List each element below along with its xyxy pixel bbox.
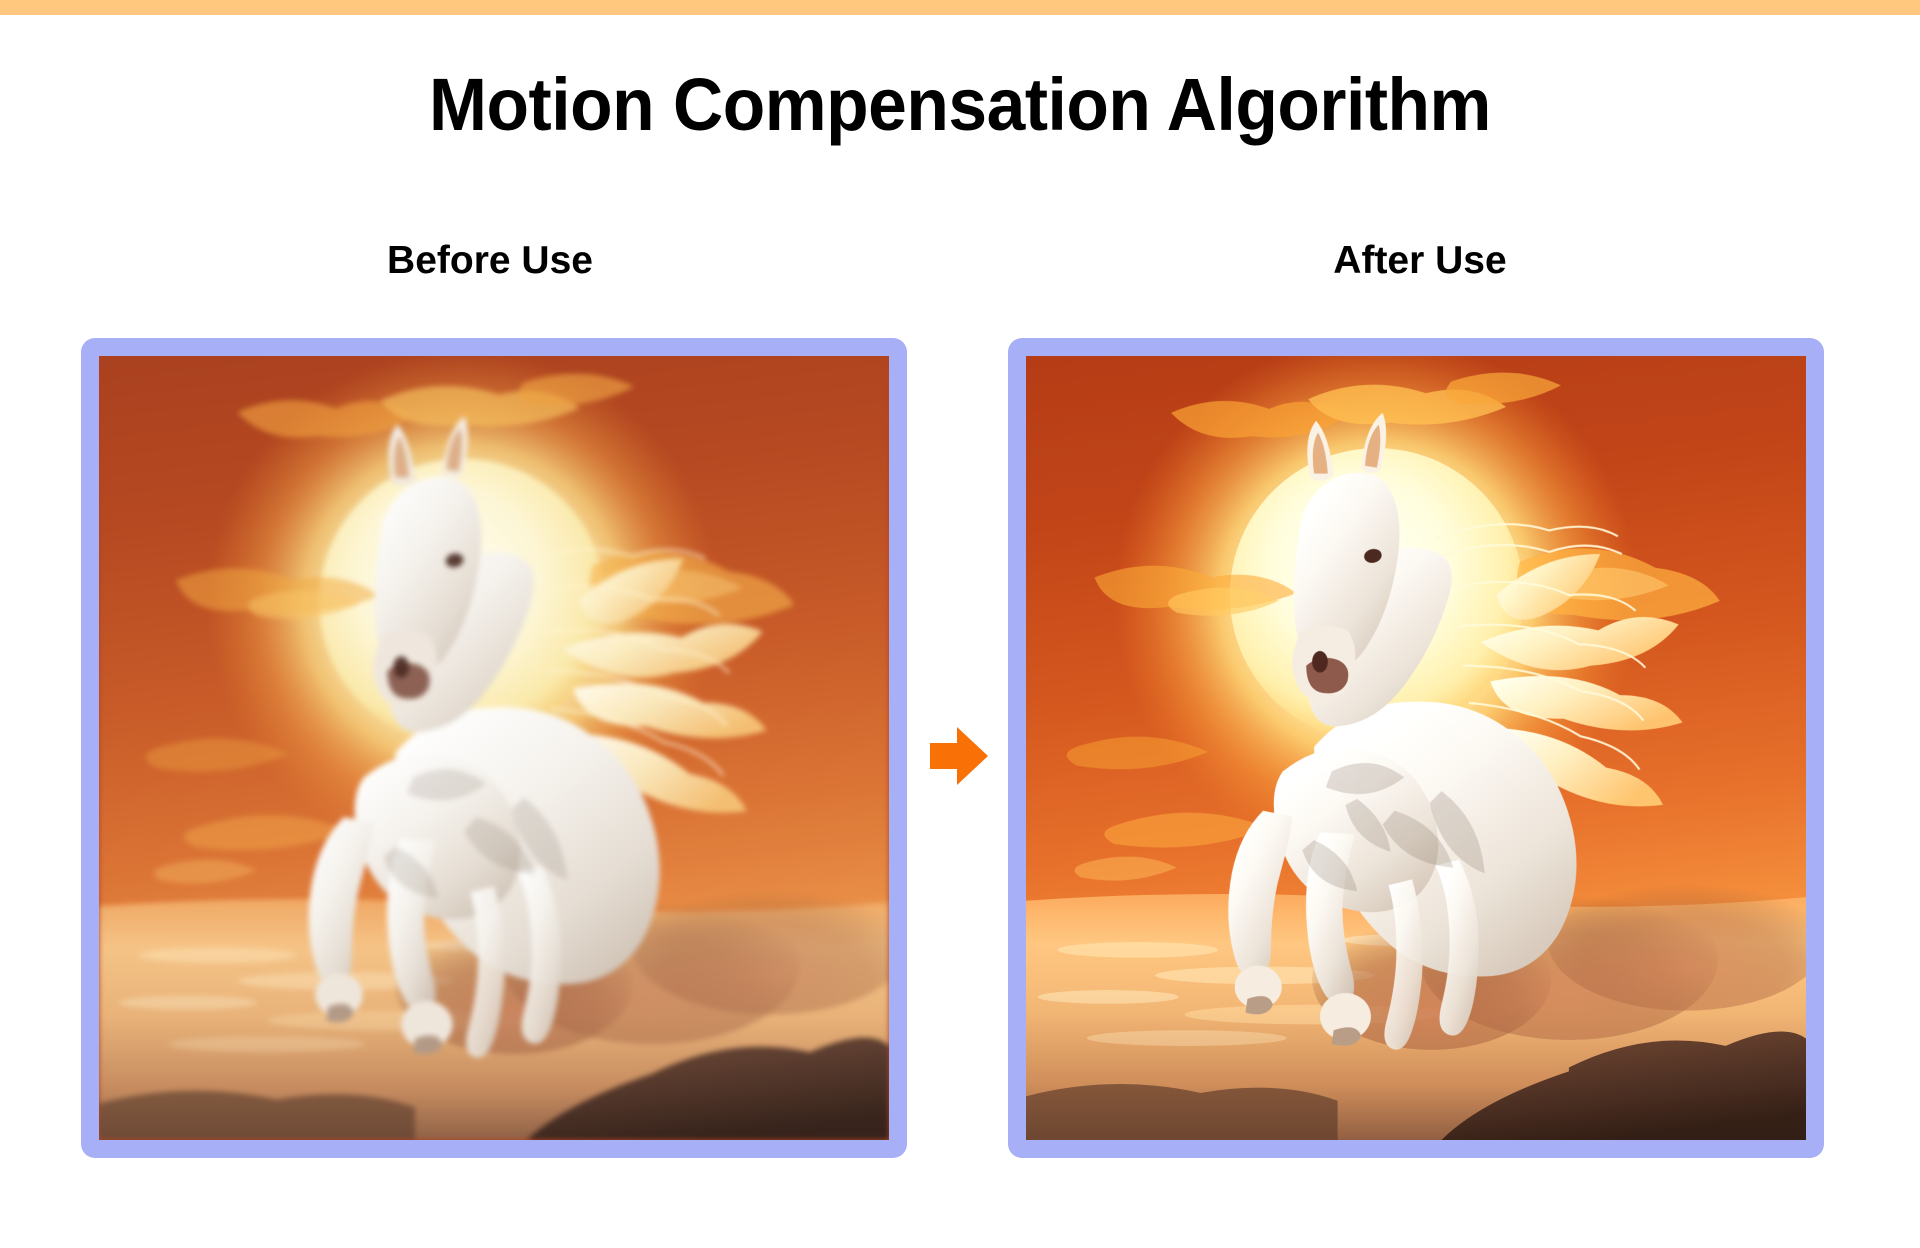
image-frame-after[interactable] bbox=[1008, 338, 1824, 1158]
arrow-right-icon bbox=[930, 726, 988, 786]
label-after-use: After Use bbox=[1030, 238, 1810, 284]
image-container-after bbox=[1026, 356, 1806, 1140]
slide-canvas: Motion Compensation Algorithm Before Use… bbox=[0, 0, 1920, 1248]
page-title: Motion Compensation Algorithm bbox=[58, 62, 1863, 148]
top-accent-banner bbox=[0, 0, 1920, 15]
horse-sunset-image-after bbox=[1026, 356, 1806, 1140]
image-frame-before[interactable] bbox=[81, 338, 907, 1158]
label-before-use: Before Use bbox=[100, 238, 880, 284]
image-container-before bbox=[99, 356, 889, 1140]
horse-sunset-image-before bbox=[99, 356, 889, 1140]
